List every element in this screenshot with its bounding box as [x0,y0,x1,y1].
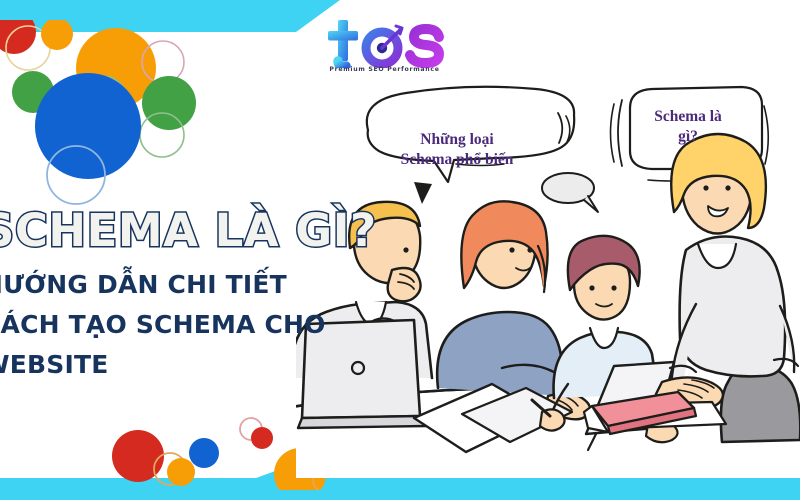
bubble2-line2: gì? [618,127,758,147]
tos-wordmark [322,18,447,68]
bubble2-line1: Schema là [618,107,758,127]
tos-logo[interactable]: Premium SEO Performance [322,18,447,80]
subtitle-line-3: WEBSITE [0,345,322,385]
dot-red-bottom-2 [251,427,273,449]
dot-green-2 [142,76,196,130]
bubble-text-what-is-schema: Schema là gì? [618,107,758,147]
dot-red-bottom [112,430,164,482]
dot-orange-bottom-1 [167,458,195,486]
subtitle-line-2: CÁCH TẠO SCHEMA CHO [0,305,322,345]
decorative-circles-top-left [0,20,270,210]
headline-block: SCHEMA LÀ GÌ? HƯỚNG DẪN CHI TIẾT CÁCH TẠ… [0,205,322,385]
bubble1-line2: Schema phổ biến [366,150,548,170]
subtitle-line-1: HƯỚNG DẪN CHI TIẾT [0,265,322,305]
logo-letter-s [410,29,439,63]
bubble1-line1: Những loại [366,130,548,150]
banner-canvas: Premium SEO Performance [0,0,800,500]
subtitle-block: HƯỚNG DẪN CHI TIẾT CÁCH TẠO SCHEMA CHO W… [0,265,322,385]
dot-orange-small [41,20,73,50]
dot-blue-bottom [189,438,219,468]
small-thought-bubble [542,173,598,212]
logo-target-icon [366,26,402,64]
page-title: SCHEMA LÀ GÌ? [0,205,322,257]
logo-tagline: Premium SEO Performance [322,66,447,73]
bubble-text-common-schema-types: Những loại Schema phổ biến [366,130,548,170]
logo-letter-t [328,20,358,66]
dot-blue-big [35,73,141,179]
